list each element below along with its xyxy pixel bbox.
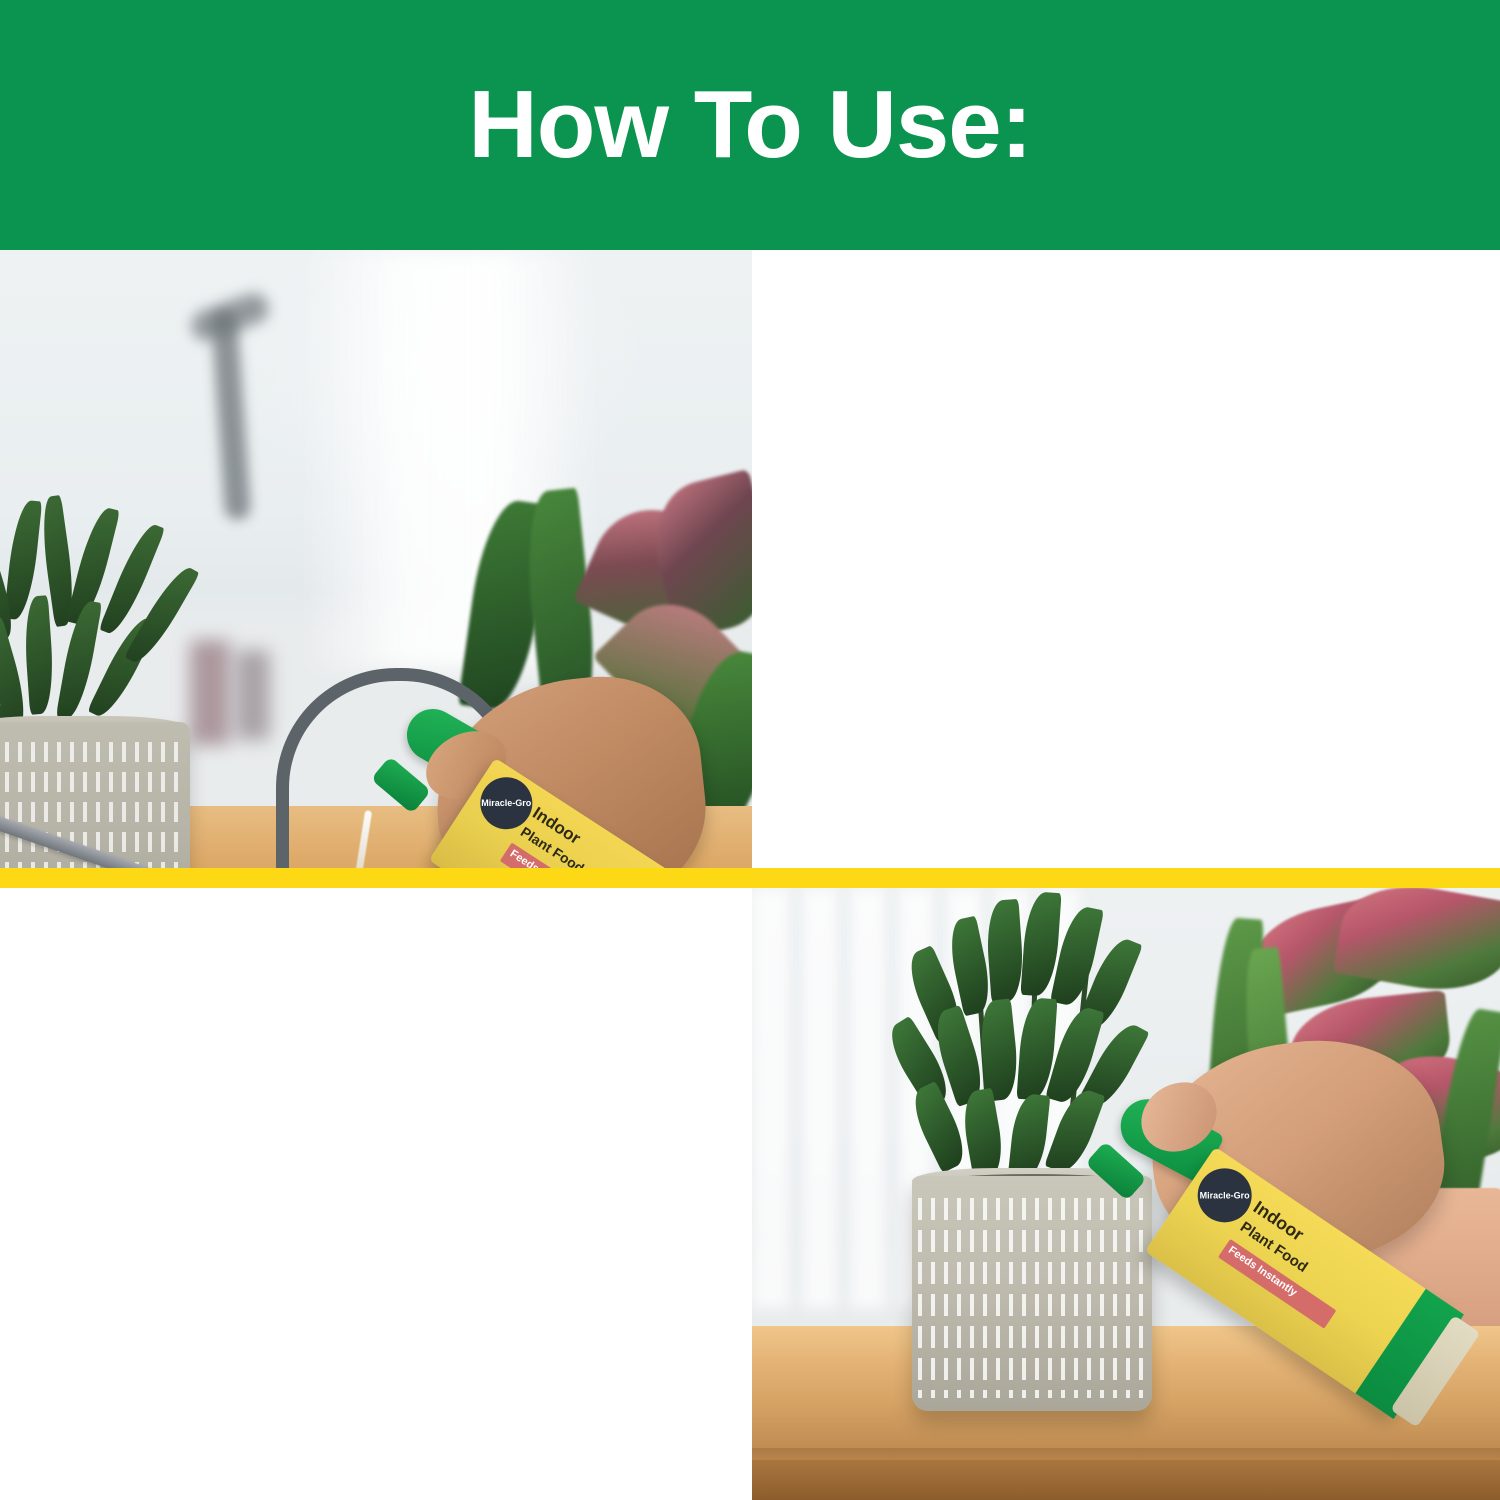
background-plant [0, 500, 270, 740]
yellow-horizontal-divider [0, 868, 1500, 888]
page-title: How To Use: [468, 77, 1031, 173]
table-front [752, 1460, 1500, 1500]
photo-top-left: Miracle-Gro Indoor Plant Food Feeds Inst… [0, 250, 752, 868]
how-to-use-infographic: How To Use: [0, 0, 1500, 1500]
instruction-panel-watering-can: Apply 4 pumps into watering can and wate… [752, 250, 1500, 868]
vertical-divider-top [752, 250, 758, 868]
instruction-panel-soil: Apply directly to soil [0, 888, 752, 1500]
miracle-gro-logo: Miracle-Gro [1198, 1168, 1252, 1222]
pot-pattern [918, 1198, 1146, 1398]
photo-bottom-right: Miracle-Gro Indoor Plant Food Feeds Inst… [752, 888, 1500, 1500]
miracle-gro-logo: Miracle-Gro [480, 777, 532, 829]
header-banner: How To Use: [0, 0, 1500, 250]
photo-panel-watering-can: Miracle-Gro Indoor Plant Food Feeds Inst… [0, 250, 752, 868]
photo-panel-soil: Miracle-Gro Indoor Plant Food Feeds Inst… [752, 888, 1500, 1500]
vertical-divider-bottom [746, 888, 752, 1500]
